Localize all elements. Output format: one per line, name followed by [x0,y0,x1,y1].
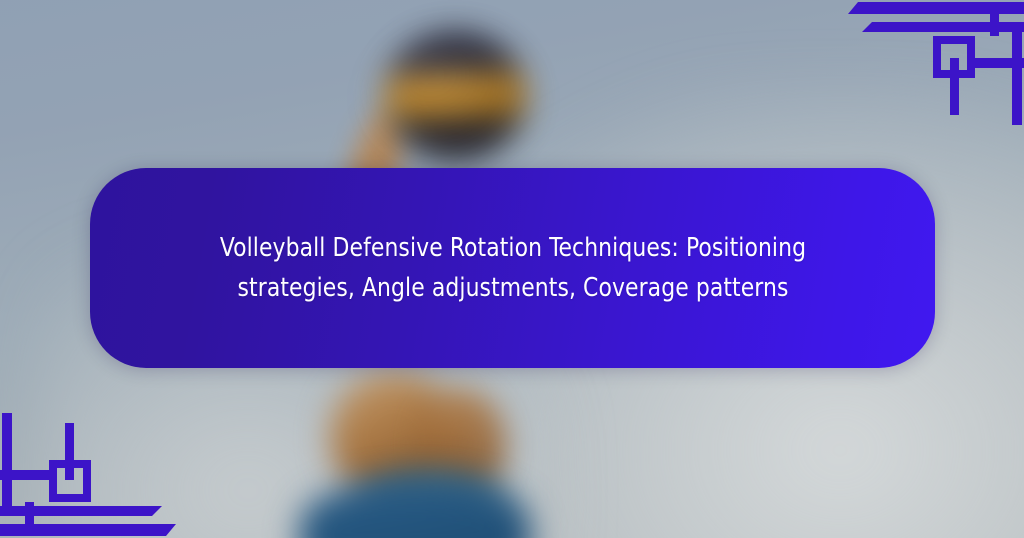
volleyball-shading [378,36,528,160]
title-banner: Volleyball Defensive Rotation Techniques… [90,168,935,368]
title-card-canvas: Volleyball Defensive Rotation Techniques… [0,0,1024,538]
page-title: Volleyball Defensive Rotation Techniques… [178,228,847,308]
